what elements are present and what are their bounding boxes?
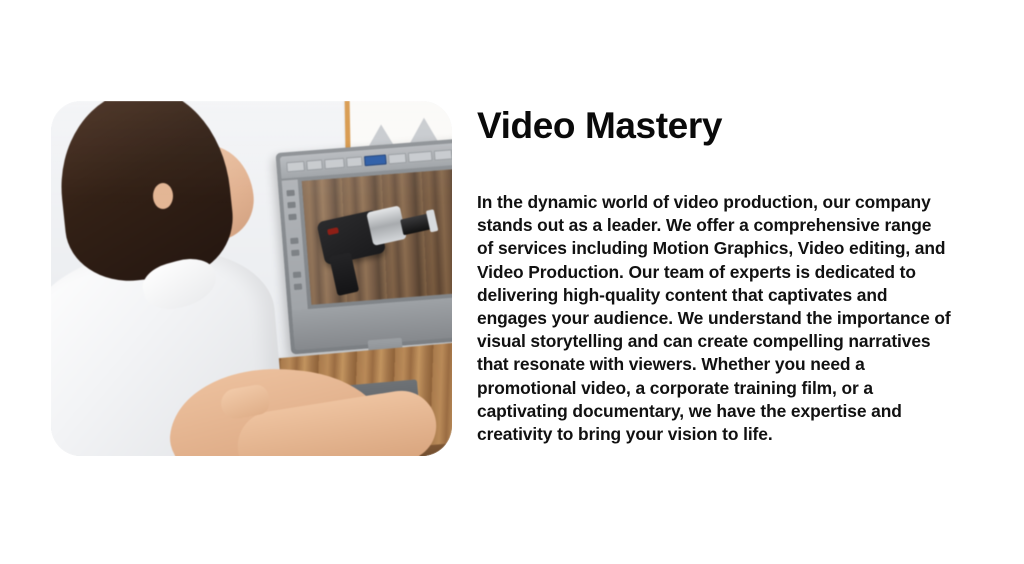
feature-photo: MOVIE TIME [51, 101, 452, 456]
slide-canvas: MOVIE TIME [0, 0, 1024, 564]
body-paragraph: In the dynamic world of video production… [477, 148, 951, 446]
photo-scene: MOVIE TIME [51, 101, 452, 456]
text-column: Video Mastery In the dynamic world of vi… [477, 104, 951, 446]
film-camera-lens-icon [400, 213, 433, 235]
desktop-monitor: MOVIE TIME [275, 134, 452, 355]
page-title: Video Mastery [477, 104, 951, 148]
person-ear [153, 183, 173, 209]
screen-preview: MOVIE TIME [302, 164, 452, 305]
